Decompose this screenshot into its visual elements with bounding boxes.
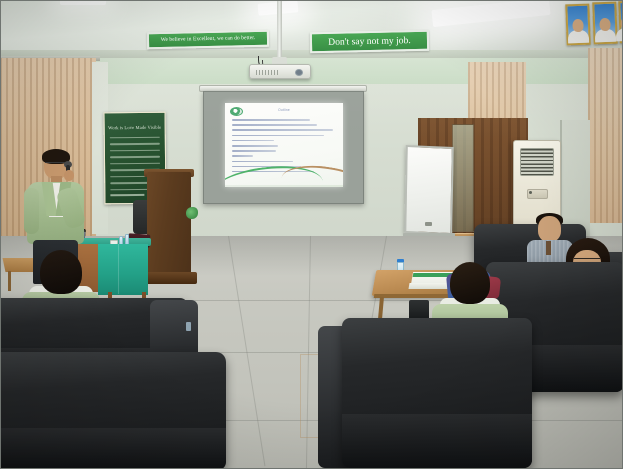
sofa-center-front [342,318,532,468]
projector-vent [256,70,278,75]
sofa-seat [0,428,226,469]
curtain-far-right [588,48,623,223]
ac-indicator-light [529,191,532,194]
whiteboard-clip [425,222,432,226]
framed-portrait [618,1,623,43]
table-cloth-fold [118,244,119,294]
podium [147,172,191,280]
sofa-seat [342,414,532,468]
slide-footer-bar [225,185,343,187]
portrait-body [595,29,616,43]
ceiling-projector [249,64,311,79]
attendee-head [40,250,82,294]
framed-portrait [565,4,590,46]
cabinet-glass-panel [452,124,474,232]
sofa-left-foreground [0,352,226,469]
attendee-tie [546,241,551,255]
side-table-leg [8,271,11,291]
attendee-head [538,216,561,242]
ac-vent-grille [520,148,554,176]
slide-title: Outline [225,108,343,112]
wall-poster-footer [110,194,144,196]
projector-mount-pole [277,0,282,62]
podium-base [141,272,197,284]
motivational-banner-left: We believe in Excellent, we can do bette… [147,30,269,50]
presenter-arm [24,188,39,234]
plant-decoration [186,207,198,219]
presentation-slide: Outline [225,103,343,187]
projector-lens-icon [295,69,303,76]
attendee-head [450,262,490,304]
framed-portrait [592,2,617,45]
portrait-face [599,17,610,30]
wall-poster-title: Work is Love Made Visible [105,125,165,131]
meeting-room-photo: We believe in Excellent, we can do bette… [0,0,623,469]
portrait-face [572,19,583,32]
table-cloth [98,244,148,295]
ceiling-light [60,0,106,5]
projection-screen: Outline [203,91,364,204]
sofa-label-tag [186,322,191,331]
motivational-banner-right: Don't say not my job. [310,30,429,53]
presenter-hand [64,170,74,181]
